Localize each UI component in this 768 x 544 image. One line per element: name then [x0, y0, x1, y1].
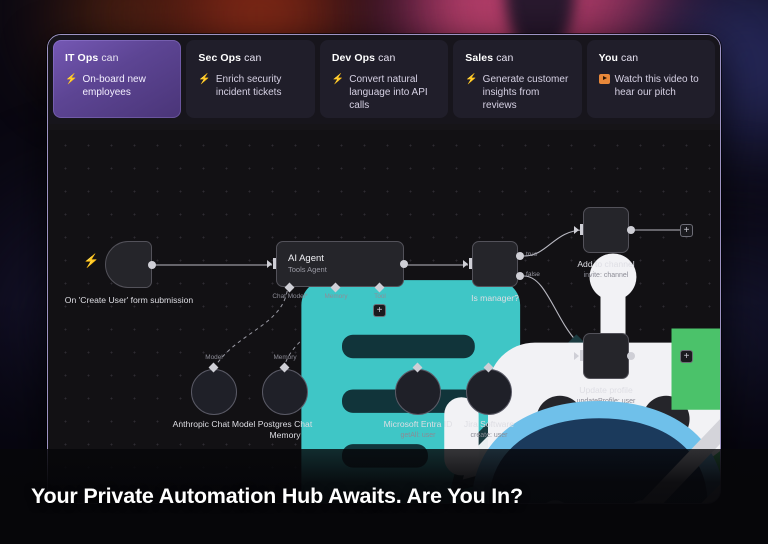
node-form-trigger-box[interactable] [105, 241, 152, 288]
tab-it-ops[interactable]: IT Ops can ⚡ On-board new employees [53, 40, 181, 118]
tab-sec-ops-head: Sec Ops can [198, 52, 303, 64]
sub-connector-label-memory: Memory [273, 354, 296, 361]
workflow-graph: ⚡ On 'Create User' form submission [48, 130, 720, 503]
node-jira-software[interactable]: Jira Software create: user [466, 369, 512, 415]
tab-sec-ops-role: Sec Ops [198, 52, 241, 64]
video-icon [599, 73, 610, 88]
add-node-after-update-profile-button[interactable]: + [680, 350, 693, 363]
node-jira-software-label: Jira Software create: user [443, 419, 535, 440]
tab-dev-ops-text: Convert natural language into API calls [349, 73, 437, 112]
edge-label-true: true [526, 251, 537, 258]
tab-sec-ops-suffix: can [244, 52, 261, 64]
ai-agent-input-arrow [267, 260, 272, 268]
node-postgres-chat-memory-title: Postgres Chat Memory [243, 419, 327, 441]
node-microsoft-entra-id[interactable]: Microsoft Entra ID getAll: user [395, 369, 441, 415]
add-node-after-add-to-channel-button[interactable]: + [680, 224, 693, 237]
tab-it-ops-suffix: can [101, 52, 118, 64]
node-add-to-channel-title: Add to channel [577, 259, 634, 270]
tab-it-ops-head: IT Ops can [65, 52, 170, 64]
node-form-trigger[interactable]: ⚡ On 'Create User' form submission [105, 241, 152, 288]
sub-connector-label-model: Model [205, 354, 222, 361]
node-form-trigger-title: On 'Create User' form submission [49, 295, 209, 306]
trigger-output-port[interactable] [148, 261, 156, 269]
add-to-channel-input-port[interactable] [580, 224, 583, 235]
persona-tab-strip: IT Ops can ⚡ On-board new employees Sec … [48, 35, 720, 124]
tab-you[interactable]: You can Watch this video to hear our pit… [587, 40, 715, 118]
node-form-trigger-label: On 'Create User' form submission [49, 295, 209, 306]
edge-label-false: false [526, 271, 540, 278]
bolt-icon: ⚡ [65, 73, 77, 86]
tab-sales-body: ⚡ Generate customer insights from review… [465, 73, 570, 112]
ai-agent-input-port[interactable] [273, 258, 276, 269]
node-is-manager[interactable]: true false Is manager? [472, 241, 518, 287]
tab-sec-ops[interactable]: Sec Ops can ⚡ Enrich security incident t… [186, 40, 314, 118]
tab-sales-head: Sales can [465, 52, 570, 64]
connector-label-tool: Tool [374, 293, 386, 300]
caption-text: Your Private Automation Hub Awaits. Are … [31, 484, 523, 509]
node-is-manager-box[interactable] [472, 241, 518, 287]
tab-dev-ops[interactable]: Dev Ops can ⚡ Convert natural language i… [320, 40, 448, 118]
tab-you-head: You can [599, 52, 704, 64]
bolt-icon: ⚡ [465, 73, 477, 86]
bolt-icon: ⚡ [332, 73, 344, 86]
tab-you-body: Watch this video to hear our pitch [599, 73, 704, 99]
add-to-channel-output-port[interactable] [627, 226, 635, 234]
connector-label-chat-model: Chat Model* [272, 293, 307, 300]
add-to-channel-input-arrow [574, 226, 579, 234]
tab-sales-role: Sales [465, 52, 493, 64]
tab-you-suffix: can [621, 52, 638, 64]
update-profile-input-arrow [574, 352, 579, 360]
bolt-icon: ⚡ [198, 73, 210, 86]
tab-sales-suffix: can [496, 52, 513, 64]
tab-sec-ops-body: ⚡ Enrich security incident tickets [198, 73, 303, 99]
node-add-to-channel-label: Add to channel invite: channel [577, 259, 634, 280]
tab-sec-ops-text: Enrich security incident tickets [216, 73, 304, 99]
tab-dev-ops-suffix: can [378, 52, 395, 64]
node-ai-agent[interactable]: AI Agent Tools Agent Chat Model* Memory … [276, 241, 404, 287]
node-anthropic-chat-model-circle[interactable] [191, 369, 237, 415]
node-postgres-chat-memory-circle[interactable] [262, 369, 308, 415]
tab-it-ops-role: IT Ops [65, 52, 98, 64]
tab-dev-ops-role: Dev Ops [332, 52, 375, 64]
caption-overlay: Your Private Automation Hub Awaits. Are … [0, 449, 768, 544]
node-add-to-channel-subtitle: invite: channel [577, 271, 634, 280]
tab-dev-ops-head: Dev Ops can [332, 52, 437, 64]
screenshot-root: IT Ops can ⚡ On-board new employees Sec … [0, 0, 768, 544]
node-is-manager-label: Is manager? [471, 293, 519, 304]
node-add-to-channel[interactable]: + Add to channel invite: channel [583, 207, 629, 253]
app-window: IT Ops can ⚡ On-board new employees Sec … [47, 34, 721, 504]
node-is-manager-title: Is manager? [471, 293, 519, 304]
update-profile-output-port[interactable] [627, 352, 635, 360]
workflow-canvas[interactable]: ⚡ On 'Create User' form submission [48, 130, 720, 503]
node-jira-software-circle[interactable] [466, 369, 512, 415]
is-manager-true-port[interactable] [516, 252, 524, 260]
connector-label-memory: Memory [324, 293, 347, 300]
tab-you-text: Watch this video to hear our pitch [615, 73, 704, 99]
tab-it-ops-body: ⚡ On-board new employees [65, 73, 170, 99]
is-manager-input-arrow [463, 260, 468, 268]
ai-agent-output-port[interactable] [400, 260, 408, 268]
node-ai-agent-box[interactable]: AI Agent Tools Agent [276, 241, 404, 287]
node-anthropic-chat-model[interactable]: Model Anthropic Chat Model [191, 369, 237, 415]
tab-sales-text: Generate customer insights from reviews [483, 73, 571, 112]
node-microsoft-entra-id-circle[interactable] [395, 369, 441, 415]
is-manager-input-port[interactable] [469, 258, 472, 269]
node-postgres-chat-memory-label: Postgres Chat Memory [243, 419, 327, 441]
trigger-bolt-icon: ⚡ [83, 253, 99, 269]
tab-you-role: You [599, 52, 618, 64]
tab-sales[interactable]: Sales can ⚡ Generate customer insights f… [453, 40, 581, 118]
node-jira-software-subtitle: create: user [443, 431, 535, 440]
tab-dev-ops-body: ⚡ Convert natural language into API call… [332, 73, 437, 112]
tab-it-ops-text: On-board new employees [82, 73, 170, 99]
node-add-to-channel-box[interactable] [583, 207, 629, 253]
update-profile-input-port[interactable] [580, 350, 583, 361]
node-jira-software-title: Jira Software [443, 419, 535, 430]
node-postgres-chat-memory[interactable]: Memory Postgres Chat Memory [262, 369, 308, 415]
add-tool-button[interactable]: + [373, 304, 386, 317]
is-manager-false-port[interactable] [516, 272, 524, 280]
